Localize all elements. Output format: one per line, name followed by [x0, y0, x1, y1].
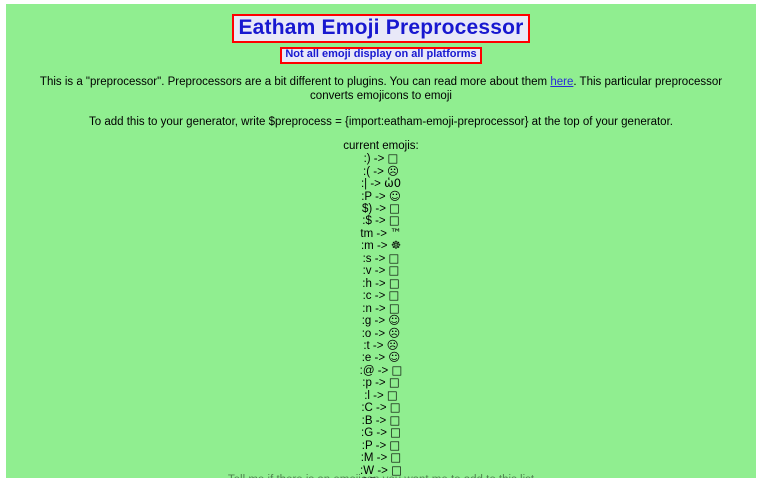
emoji-code: :e	[362, 352, 372, 364]
emoji-list-section: current emojis: :) -> □:( -> ☹:| -> ὡ0:P…	[6, 141, 756, 478]
emoji-mapping-row: :C -> □	[6, 402, 756, 414]
emoji-code: :l	[364, 390, 370, 402]
emoji-arrow: ->	[375, 253, 386, 265]
emoji-mapping-list: :) -> □:( -> ☹:| -> ὡ0:P -> ☺$) -> □:$ -…	[6, 153, 756, 478]
emoji-mapping-row: :( -> ☹	[6, 166, 756, 178]
emoji-code: :C	[361, 402, 373, 414]
emoji-code: :M	[361, 452, 374, 464]
emoji-mapping-row: :p -> □	[6, 377, 756, 389]
emoji-mapping-row: :g -> ☺	[6, 315, 756, 327]
emoji-mapping-row: :o -> ☹	[6, 328, 756, 340]
emoji-arrow: ->	[374, 153, 385, 165]
emoji-arrow: ->	[375, 377, 386, 389]
emoji-mapping-row: :e -> ☺	[6, 352, 756, 364]
emoji-arrow: ->	[373, 340, 384, 352]
emoji-arrow: ->	[375, 203, 386, 215]
emoji-mapping-row: :B -> □	[6, 415, 756, 427]
emoji-code: :h	[362, 278, 372, 290]
emoji-arrow: ->	[378, 365, 389, 377]
intro-paragraph-2: To add this to your generator, write $pr…	[6, 115, 756, 129]
emoji-arrow: ->	[376, 402, 387, 414]
emoji-arrow: ->	[375, 290, 386, 302]
emoji-code: :B	[362, 415, 373, 427]
page-subtitle-container: Not all emoji display on all platforms	[6, 44, 756, 64]
emoji-code: :v	[363, 265, 372, 277]
emoji-arrow: ->	[373, 390, 384, 402]
emoji-arrow: ->	[376, 415, 387, 427]
emoji-mapping-row: :s -> □	[6, 253, 756, 265]
page-body: Eatham Emoji Preprocessor Not all emoji …	[6, 4, 756, 478]
emoji-arrow: ->	[375, 191, 386, 203]
emoji-code: :G	[361, 427, 373, 439]
emoji-mapping-row: :@ -> □	[6, 365, 756, 377]
page-title-container: Eatham Emoji Preprocessor	[6, 14, 756, 43]
emoji-arrow: ->	[375, 278, 386, 290]
emoji-code: tm	[360, 228, 373, 240]
emoji-code: :c	[363, 290, 372, 302]
emoji-mapping-row: :t -> ☹	[6, 340, 756, 352]
intro-text-part1: This is a "preprocessor". Preprocessors …	[40, 76, 550, 88]
emoji-mapping-row: :c -> □	[6, 290, 756, 302]
emoji-arrow: ->	[376, 440, 387, 452]
emoji-code: :(	[363, 166, 370, 178]
emoji-code: :n	[362, 303, 372, 315]
emoji-mapping-row: :n -> □	[6, 303, 756, 315]
emoji-code: :m	[361, 240, 374, 252]
emoji-code: :P	[361, 191, 372, 203]
emoji-arrow: ->	[375, 215, 386, 227]
emoji-mapping-row: :v -> □	[6, 265, 756, 277]
emoji-code: :P	[362, 440, 373, 452]
emoji-list-heading: current emojis:	[6, 141, 756, 153]
emoji-arrow: ->	[375, 315, 386, 327]
here-link[interactable]: here	[550, 76, 573, 88]
emoji-mapping-row: :$ -> □	[6, 215, 756, 227]
emoji-code: :@	[360, 365, 375, 377]
emoji-mapping-row: $) -> □	[6, 203, 756, 215]
emoji-code: :)	[364, 153, 371, 165]
emoji-code: :p	[362, 377, 372, 389]
emoji-arrow: ->	[375, 352, 386, 364]
emoji-code: :o	[362, 328, 372, 340]
emoji-mapping-row: :) -> □	[6, 153, 756, 165]
emoji-arrow: ->	[377, 452, 388, 464]
emoji-mapping-row: :h -> □	[6, 278, 756, 290]
emoji-arrow: ->	[376, 228, 387, 240]
emoji-code: :g	[362, 315, 372, 327]
page-title: Eatham Emoji Preprocessor	[232, 14, 529, 43]
emoji-arrow: ->	[370, 178, 381, 190]
emoji-code: :$	[362, 215, 372, 227]
emoji-code: $)	[362, 203, 372, 215]
emoji-mapping-row: :G -> □	[6, 427, 756, 439]
emoji-mapping-row: :| -> ὡ0	[6, 178, 756, 190]
emoji-arrow: ->	[375, 328, 386, 340]
emoji-mapping-row: :P -> ☺	[6, 191, 756, 203]
emoji-arrow: ->	[373, 166, 384, 178]
emoji-code: :t	[363, 340, 369, 352]
emoji-code: :s	[363, 253, 372, 265]
emoji-mapping-row: :P -> □	[6, 440, 756, 452]
emoji-arrow: ->	[377, 240, 388, 252]
footer-clipped-region: Tell me if there is an emojicon you want…	[6, 474, 756, 478]
emoji-mapping-row: :m -> ☸	[6, 240, 756, 252]
footer-note: Tell me if there is an emojicon you want…	[6, 474, 756, 478]
page-subtitle: Not all emoji display on all platforms	[280, 47, 481, 64]
emoji-arrow: ->	[375, 303, 386, 315]
emoji-code: :|	[361, 178, 367, 190]
emoji-mapping-row: :M -> □	[6, 452, 756, 464]
emoji-mapping-row: :l -> □	[6, 390, 756, 402]
emoji-mapping-row: tm -> ™	[6, 228, 756, 240]
emoji-arrow: ->	[375, 265, 386, 277]
intro-paragraph-1: This is a "preprocessor". Preprocessors …	[6, 75, 756, 104]
emoji-arrow: ->	[376, 427, 387, 439]
